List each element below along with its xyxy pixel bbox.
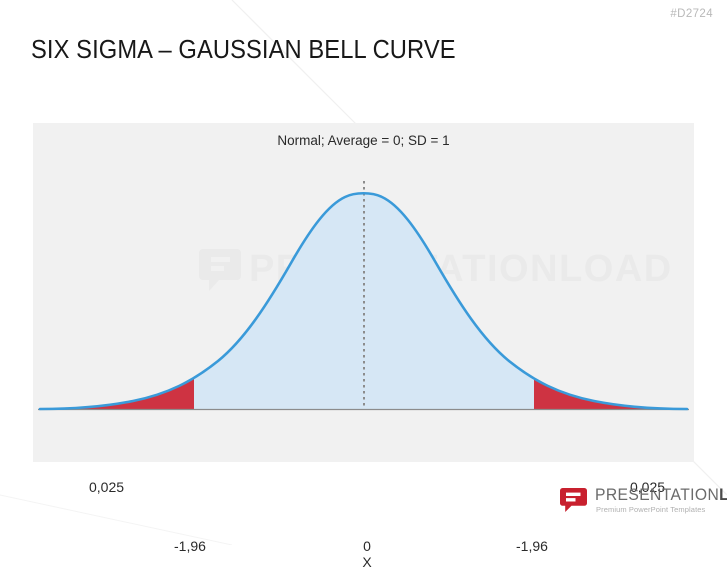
left-tail-probability-label: 0,025 — [89, 479, 124, 495]
logo-wordmark: PRESENTATIONLOAD® — [595, 486, 727, 505]
logo-wordmark-bold: LOAD — [719, 486, 727, 504]
x-tick-label-left: -1,96 — [174, 538, 206, 554]
slide-canvas: #D2724 SIX SIGMA – GAUSSIAN BELL CURVE P… — [0, 0, 727, 545]
document-id: #D2724 — [670, 8, 713, 20]
x-tick-label-right: -1,96 — [516, 538, 548, 554]
left-tail-fill — [33, 163, 194, 409]
logo-wordmark-light: PRESENTATION — [595, 486, 719, 504]
x-tick-label-center: 0 — [353, 538, 381, 554]
gaussian-bell-curve-chart — [33, 123, 694, 462]
right-tail-fill — [534, 163, 694, 409]
chart-panel: PRESENTATIONLOAD Normal; Average = 0; SD… — [33, 123, 694, 462]
x-axis-title: X — [353, 554, 381, 570]
page-title: SIX SIGMA – GAUSSIAN BELL CURVE — [31, 36, 456, 65]
presentationload-logo[interactable]: PRESENTATIONLOAD® Premium PowerPoint Tem… — [560, 486, 710, 518]
logo-tagline: Premium PowerPoint Templates — [596, 505, 705, 514]
speech-bubble-icon — [560, 488, 587, 512]
